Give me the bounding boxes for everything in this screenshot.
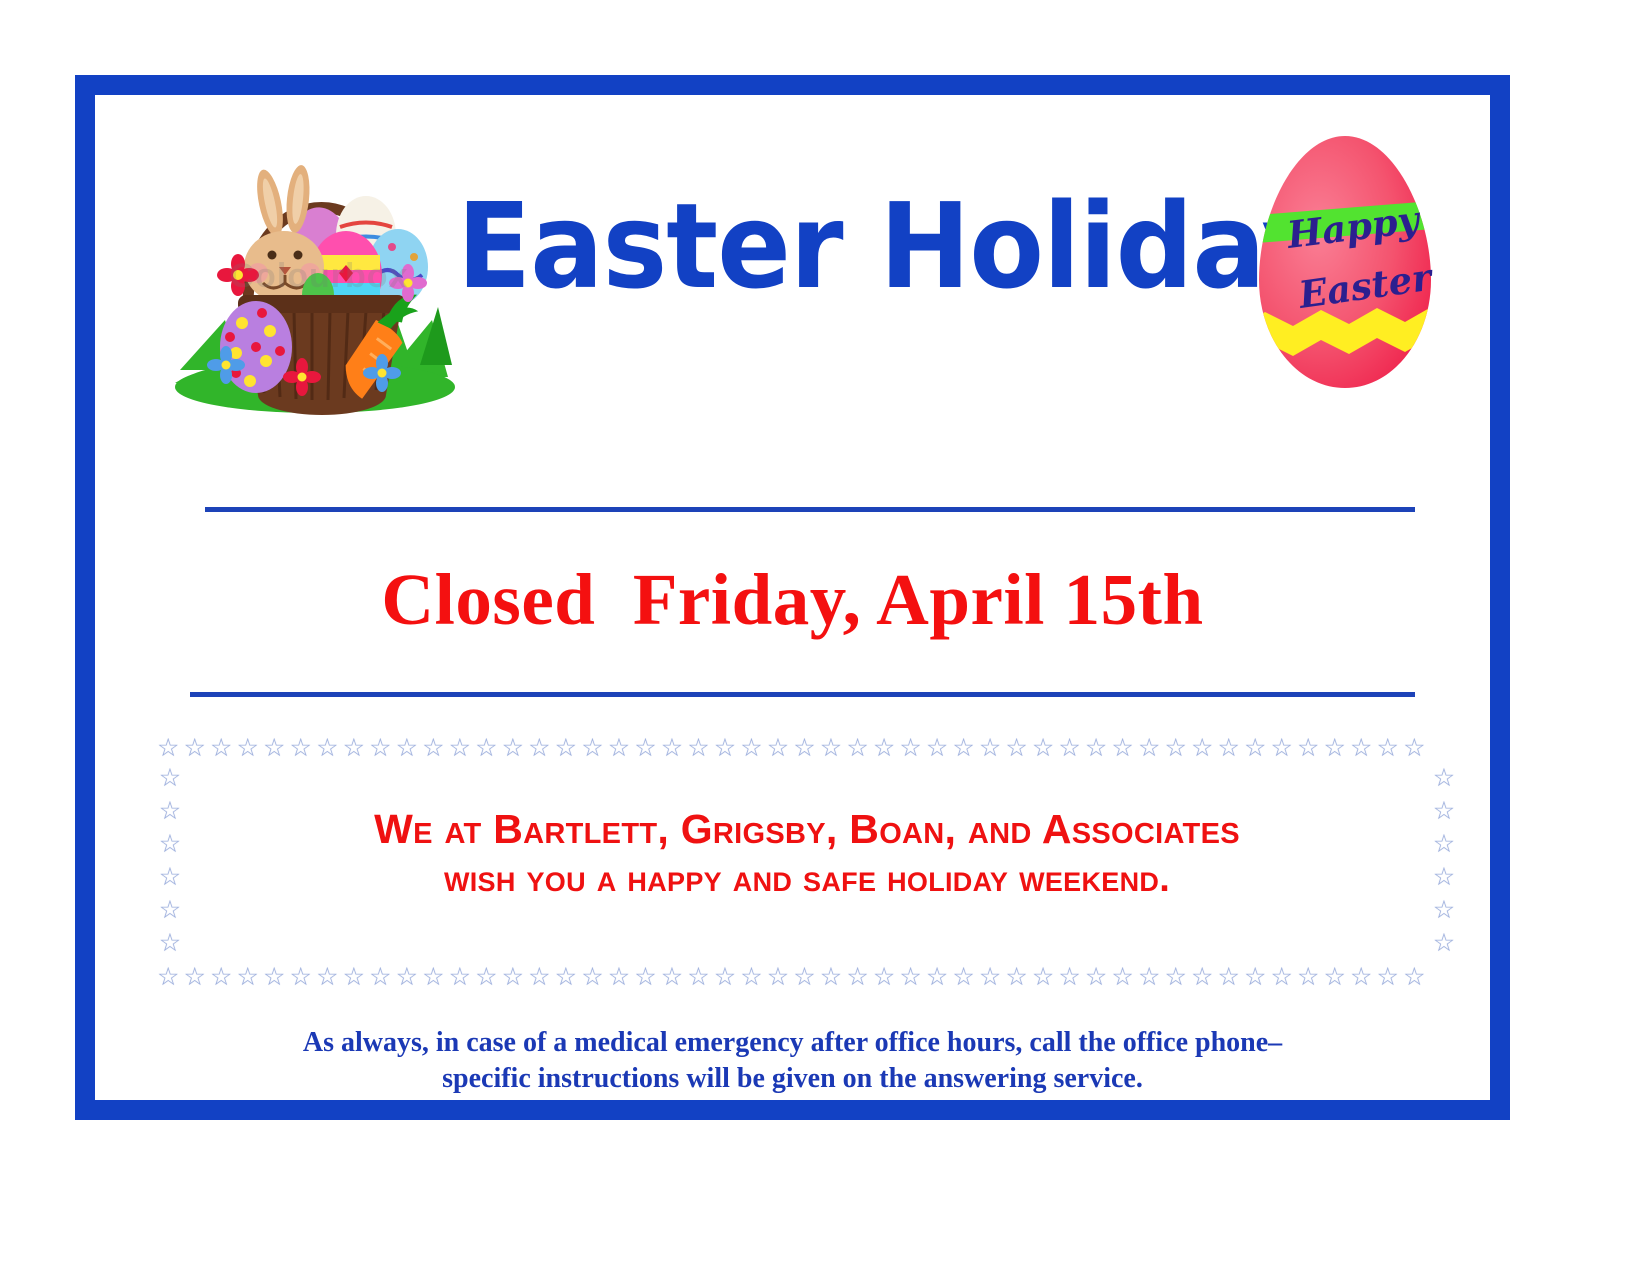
star-bordered-message-box: ☆☆☆☆☆☆☆☆☆☆☆☆☆☆☆☆☆☆☆☆☆☆☆☆☆☆☆☆☆☆☆☆☆☆☆☆☆☆☆☆… [157,735,1457,990]
divider-rule-top [205,507,1415,512]
divider-rule-bottom [190,692,1415,697]
star-border-bottom: ☆☆☆☆☆☆☆☆☆☆☆☆☆☆☆☆☆☆☆☆☆☆☆☆☆☆☆☆☆☆☆☆☆☆☆☆☆☆☆☆… [157,964,1457,990]
page-inner: Colourbox Easter Holiday [95,95,1490,1100]
holiday-message-line-1: We at Bartlett, Grigsby, Boan, and Assoc… [374,806,1240,852]
blue-page-border: Colourbox Easter Holiday [75,75,1510,1120]
holiday-message-line-2: wish you a happy and safe holiday weeken… [197,855,1417,904]
star-border-right: ☆☆☆☆☆☆☆ [1431,761,1457,964]
header-band: Colourbox Easter Holiday [95,95,1490,470]
emergency-note-line-2: specific instructions will be given on t… [95,1061,1490,1097]
easter-basket-icon: Colourbox [170,115,460,415]
star-border-top: ☆☆☆☆☆☆☆☆☆☆☆☆☆☆☆☆☆☆☆☆☆☆☆☆☆☆☆☆☆☆☆☆☆☆☆☆☆☆☆☆… [157,735,1457,761]
easter-egg-icon: Happy Easter [1245,130,1445,395]
page-title: Easter Holiday [457,187,1193,305]
holiday-message: We at Bartlett, Grigsby, Boan, and Assoc… [197,803,1417,904]
star-border-left: ☆☆☆☆☆☆☆ [157,761,183,964]
notice-page: Colourbox Easter Holiday [0,0,1650,1275]
emergency-note-line-1: As always, in case of a medical emergenc… [95,1025,1490,1061]
closure-date-line: Closed Friday, April 15th [95,563,1490,636]
emergency-note: As always, in case of a medical emergenc… [95,1025,1490,1098]
